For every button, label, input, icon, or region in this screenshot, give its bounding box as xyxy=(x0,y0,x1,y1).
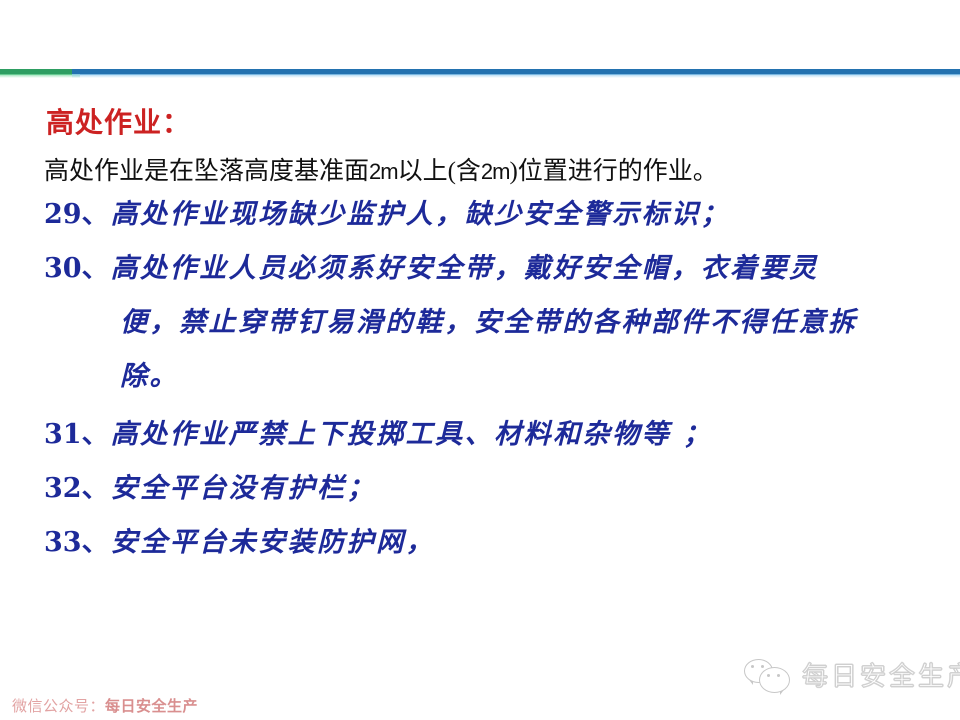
wechat-bubble-front xyxy=(759,667,790,693)
list-item-number: 31、 xyxy=(44,419,111,450)
definition-text: 高处作业是在坠落高度基准面2m以上(含2m)位置进行的作业。 xyxy=(44,151,718,187)
top-divider-rule xyxy=(0,69,960,77)
wechat-dot-2 xyxy=(761,665,764,668)
list-item-text: 高处作业人员必须系好安全带，戴好安全帽，衣着要灵 xyxy=(111,253,819,284)
list-item-text: 便，禁止穿带钉易滑的鞋，安全带的各种部件不得任意拆 xyxy=(120,307,858,338)
definition-part-2: 以上(含 xyxy=(398,158,481,185)
wechat-dot-4 xyxy=(777,674,780,677)
list-item-number: 33、 xyxy=(44,527,111,558)
list-item-text: 除。 xyxy=(120,361,179,392)
list-item: 29、高处作业现场缺少监护人，缺少安全警示标识； xyxy=(44,192,934,231)
list-item: 30、高处作业人员必须系好安全带，戴好安全帽，衣着要灵 xyxy=(44,246,934,285)
wechat-account-prefix: 微信公众号： xyxy=(12,698,105,715)
definition-unit-2: 2m xyxy=(481,159,510,184)
list-item-text: 高处作业严禁上下投掷工具、材料和杂物等 ； xyxy=(111,419,713,450)
divider-blue-glow xyxy=(72,74,960,78)
brand-watermark-name: 每日安全生产 xyxy=(802,656,960,693)
list-item: 33、安全平台未安装防护网， xyxy=(44,520,934,559)
list-item-text: 安全平台没有护栏； xyxy=(111,473,377,504)
page-title: 高处作业： xyxy=(46,101,191,141)
list-item-text: 高处作业现场缺少监护人，缺少安全警示标识； xyxy=(111,199,731,230)
wechat-dot-1 xyxy=(751,665,754,668)
wechat-account-watermark: 微信公众号：每日安全生产 xyxy=(12,695,198,716)
list-item-number: 29、 xyxy=(44,199,111,230)
list-item-number: 32、 xyxy=(44,473,111,504)
definition-part-1: 高处作业是在坠落高度基准面 xyxy=(44,158,369,185)
definition-part-3: )位置进行的作业。 xyxy=(509,158,717,185)
wechat-account-name: 每日安全生产 xyxy=(105,698,198,715)
list-item-continuation: 除。 xyxy=(120,354,960,393)
list-item-text: 安全平台未安装防护网， xyxy=(111,527,436,558)
divider-green-glow xyxy=(0,74,80,78)
wechat-dot-3 xyxy=(767,674,770,677)
definition-unit-1: 2m xyxy=(369,159,398,184)
list-item-number: 30、 xyxy=(44,253,111,284)
list-item: 31、高处作业严禁上下投掷工具、材料和杂物等 ； xyxy=(44,412,934,451)
slide-canvas: 高处作业： 高处作业是在坠落高度基准面2m以上(含2m)位置进行的作业。 29、… xyxy=(0,0,960,720)
list-item: 32、安全平台没有护栏； xyxy=(44,466,934,505)
wechat-logo-icon xyxy=(744,657,790,693)
list-item-continuation: 便，禁止穿带钉易滑的鞋，安全带的各种部件不得任意拆 xyxy=(120,300,960,339)
brand-watermark: 每日安全生产 xyxy=(744,656,960,693)
